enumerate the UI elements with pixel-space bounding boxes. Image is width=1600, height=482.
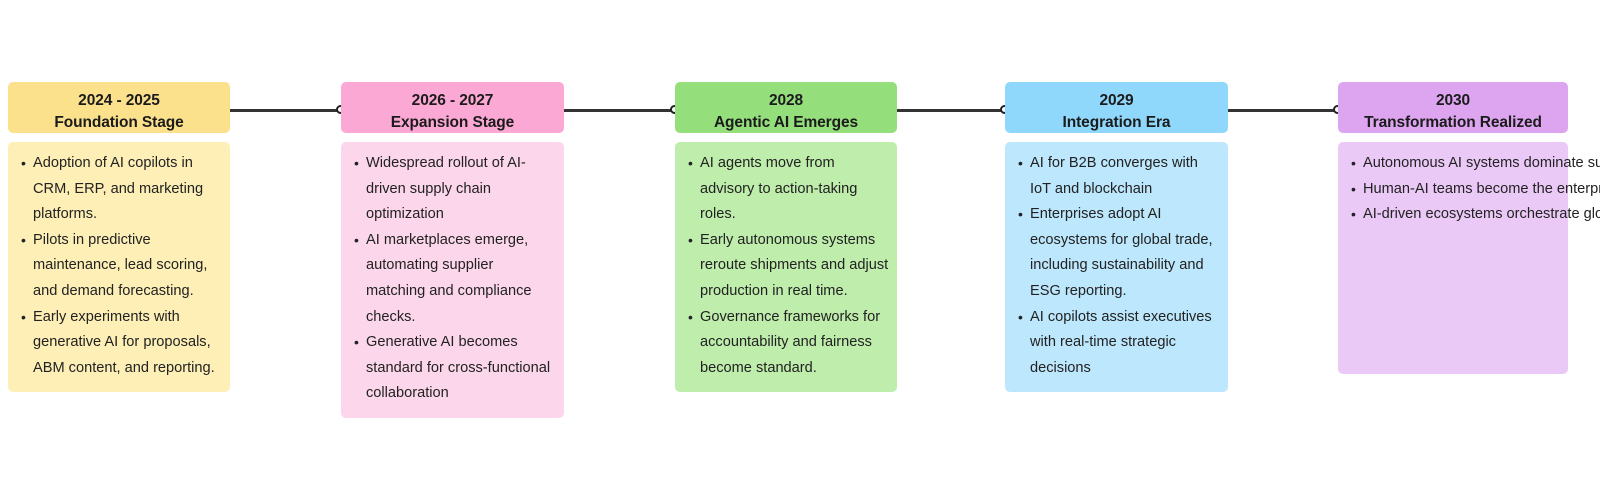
list-item: AI-driven ecosystems orchestrate global … — [1363, 202, 1560, 228]
list-item: Human-AI teams become the enterprise nor… — [1363, 177, 1560, 203]
timeline-stage-integration[interactable]: 2029 Integration Era AI for B2B converge… — [1005, 82, 1228, 392]
stage-header-integration[interactable]: 2029 Integration Era — [1005, 82, 1228, 133]
connector-line-3 — [897, 109, 1005, 112]
stage-header-expansion[interactable]: 2026 - 2027 Expansion Stage — [341, 82, 564, 133]
connector-line-2 — [564, 109, 675, 112]
stage-bullet-list-foundation: Adoption of AI copilots in CRM, ERP, and… — [16, 151, 222, 381]
list-item: AI for B2B converges with IoT and blockc… — [1030, 151, 1220, 202]
stage-header-agentic[interactable]: 2028 Agentic AI Emerges — [675, 82, 897, 133]
timeline-stage-foundation[interactable]: 2024 - 2025 Foundation Stage Adoption of… — [8, 82, 230, 392]
stage-year-agentic: 2028 — [681, 90, 891, 112]
list-item: AI copilots assist executives with real-… — [1030, 305, 1220, 382]
list-item: AI marketplaces emerge, automating suppl… — [366, 228, 556, 330]
stage-year-integration: 2029 — [1011, 90, 1222, 112]
stage-title-agentic: Agentic AI Emerges — [681, 112, 891, 134]
stage-header-transformation[interactable]: 2030 Transformation Realized — [1338, 82, 1568, 133]
stage-bullet-list-expansion: Widespread rollout of AI-driven supply c… — [349, 151, 556, 407]
stage-bullet-list-transformation: Autonomous AI systems dominate supply ch… — [1346, 151, 1560, 228]
list-item: Enterprises adopt AI ecosystems for glob… — [1030, 202, 1220, 304]
stage-title-foundation: Foundation Stage — [14, 112, 224, 134]
connector-line-4 — [1228, 109, 1338, 112]
timeline-stage-transformation[interactable]: 2030 Transformation Realized Autonomous … — [1338, 82, 1568, 374]
list-item: Early experiments with generative AI for… — [33, 305, 222, 382]
stage-body-integration: AI for B2B converges with IoT and blockc… — [1005, 142, 1228, 392]
stage-title-expansion: Expansion Stage — [347, 112, 558, 134]
connector-line-1 — [230, 109, 341, 112]
stage-bullet-list-integration: AI for B2B converges with IoT and blockc… — [1013, 151, 1220, 381]
stage-year-foundation: 2024 - 2025 — [14, 90, 224, 112]
list-item: Governance frameworks for accountability… — [700, 305, 889, 382]
stage-title-integration: Integration Era — [1011, 112, 1222, 134]
stage-year-transformation: 2030 — [1344, 90, 1562, 112]
stage-body-transformation: Autonomous AI systems dominate supply ch… — [1338, 142, 1568, 374]
stage-body-expansion: Widespread rollout of AI-driven supply c… — [341, 142, 564, 418]
list-item: Adoption of AI copilots in CRM, ERP, and… — [33, 151, 222, 228]
list-item: Autonomous AI systems dominate supply ch… — [1363, 151, 1560, 177]
list-item: Widespread rollout of AI-driven supply c… — [366, 151, 556, 228]
stage-body-agentic: AI agents move from advisory to action-t… — [675, 142, 897, 392]
stage-year-expansion: 2026 - 2027 — [347, 90, 558, 112]
list-item: Early autonomous systems reroute shipmen… — [700, 228, 889, 305]
stage-title-transformation: Transformation Realized — [1344, 112, 1562, 134]
timeline-stage-agentic[interactable]: 2028 Agentic AI Emerges AI agents move f… — [675, 82, 897, 392]
stage-header-foundation[interactable]: 2024 - 2025 Foundation Stage — [8, 82, 230, 133]
stage-bullet-list-agentic: AI agents move from advisory to action-t… — [683, 151, 889, 381]
list-item: AI agents move from advisory to action-t… — [700, 151, 889, 228]
timeline-stage-expansion[interactable]: 2026 - 2027 Expansion Stage Widespread r… — [341, 82, 564, 418]
list-item: Generative AI becomes standard for cross… — [366, 330, 556, 407]
timeline-diagram: 2024 - 2025 Foundation Stage Adoption of… — [0, 0, 1600, 482]
list-item: Pilots in predictive maintenance, lead s… — [33, 228, 222, 305]
stage-body-foundation: Adoption of AI copilots in CRM, ERP, and… — [8, 142, 230, 392]
